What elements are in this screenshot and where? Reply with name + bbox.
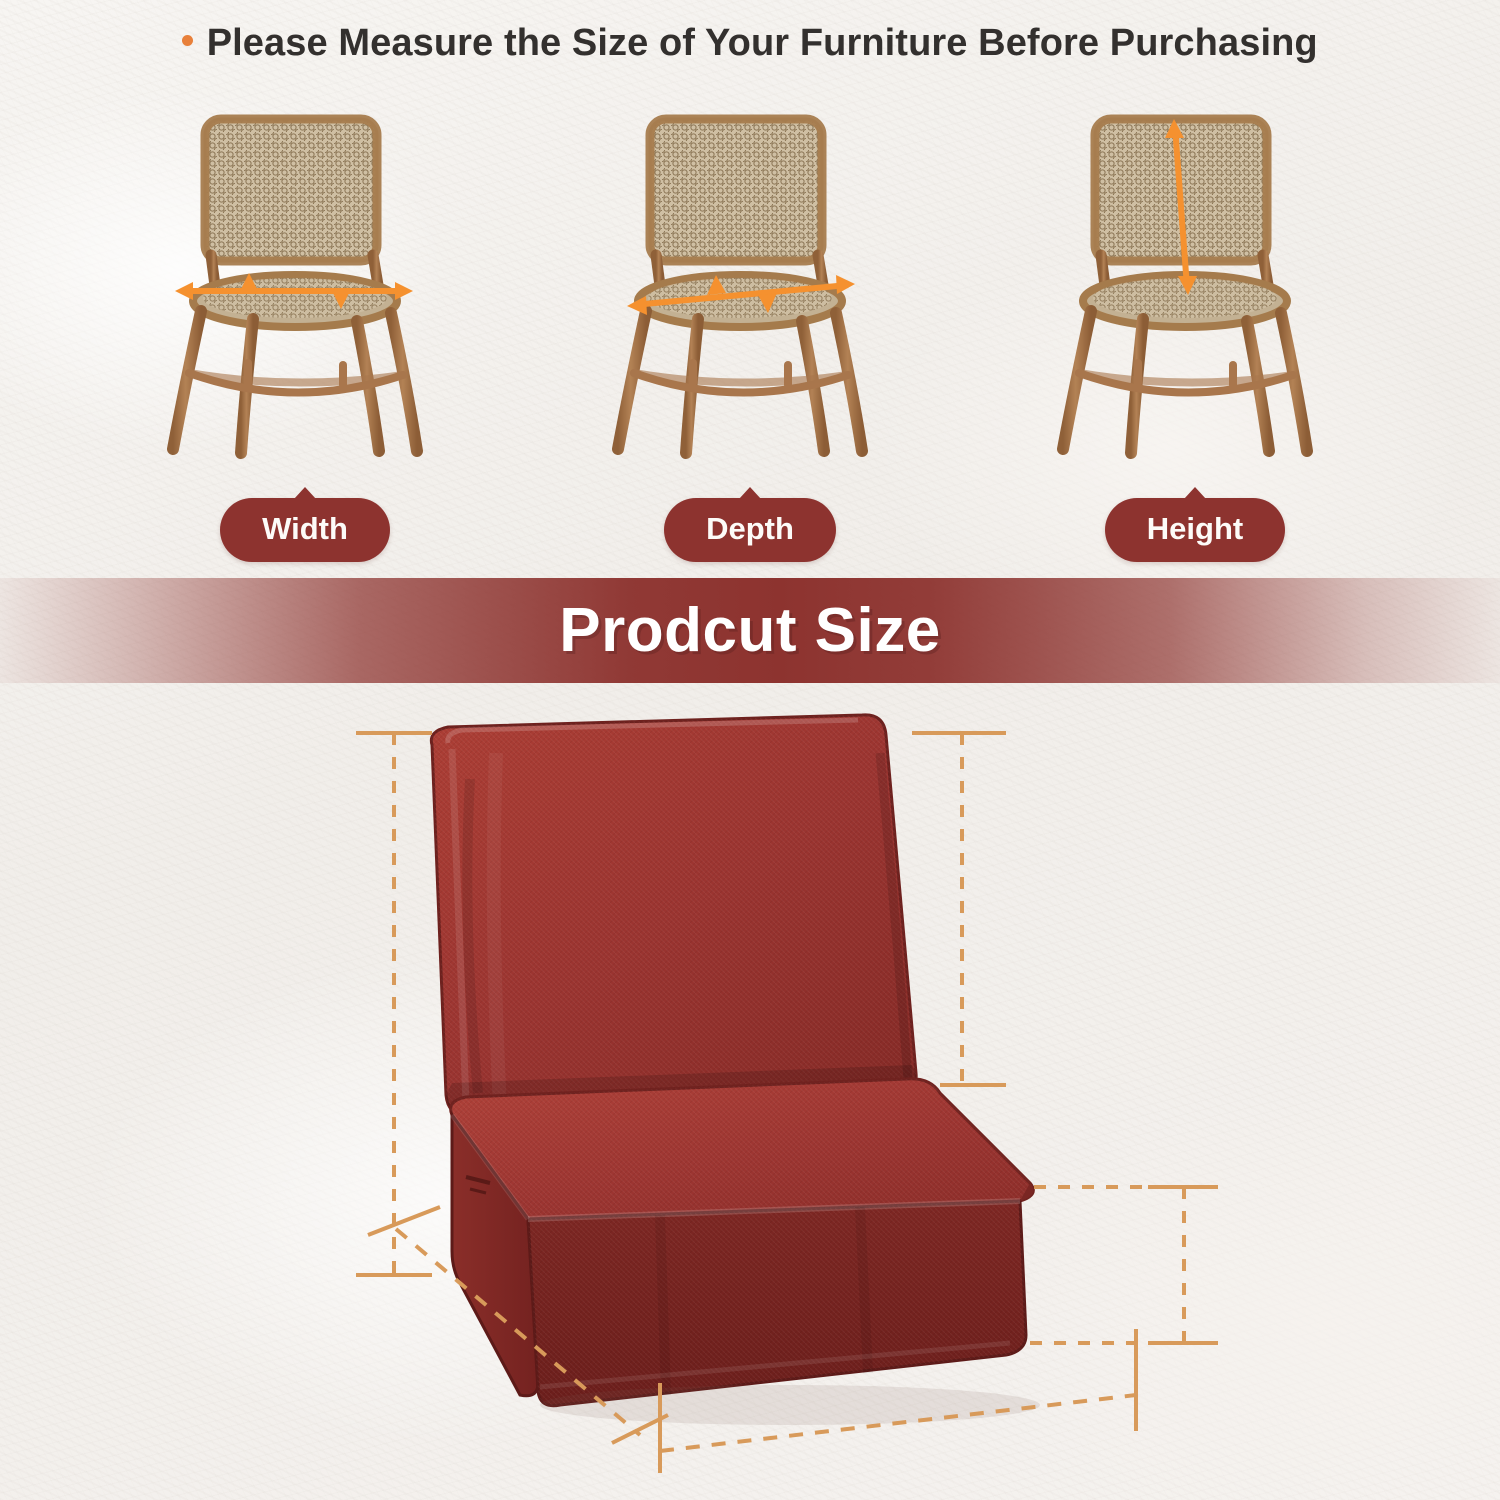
cushion-set-illustration	[0, 683, 1500, 1500]
product-size-stage: 27" 21" 6" 24" 24 " 6 Inches	[0, 683, 1500, 1500]
chair-label-wrap-depth: Depth	[540, 498, 960, 562]
chair-seat	[193, 275, 397, 327]
product-size-banner: Prodcut Size	[0, 578, 1500, 683]
chair-card-height: Height	[985, 105, 1405, 575]
header-note-text: Please Measure the Size of Your Furnitur…	[207, 22, 1318, 65]
chair-label-wrap-height: Height	[985, 498, 1405, 562]
chair-illustration-width	[145, 105, 465, 485]
dimension-seat-thickness	[1030, 1187, 1218, 1343]
chair-card-depth: Depth	[540, 105, 960, 575]
banner-title: Prodcut Size	[559, 595, 941, 666]
chair-back-panel	[650, 119, 822, 261]
chair-label-height[interactable]: Height	[1105, 498, 1285, 562]
chair-illustration-height	[1035, 105, 1355, 485]
back-cushion	[431, 715, 916, 1115]
seat-cushion	[451, 1079, 1040, 1425]
chair-label-width[interactable]: Width	[220, 498, 390, 562]
bullet-dot-icon	[182, 35, 193, 46]
chair-back-panel	[205, 119, 377, 261]
chair-label-depth[interactable]: Depth	[664, 498, 836, 562]
infographic-page: Please Measure the Size of Your Furnitur…	[0, 0, 1500, 1500]
chair-measure-row: Width	[0, 105, 1500, 575]
header-note: Please Measure the Size of Your Furnitur…	[0, 22, 1500, 65]
chair-card-width: Width	[95, 105, 515, 575]
dimension-total-height	[356, 733, 432, 1275]
dimension-back-height	[912, 733, 1006, 1085]
chair-label-wrap-width: Width	[95, 498, 515, 562]
chair-illustration-depth	[590, 105, 910, 485]
